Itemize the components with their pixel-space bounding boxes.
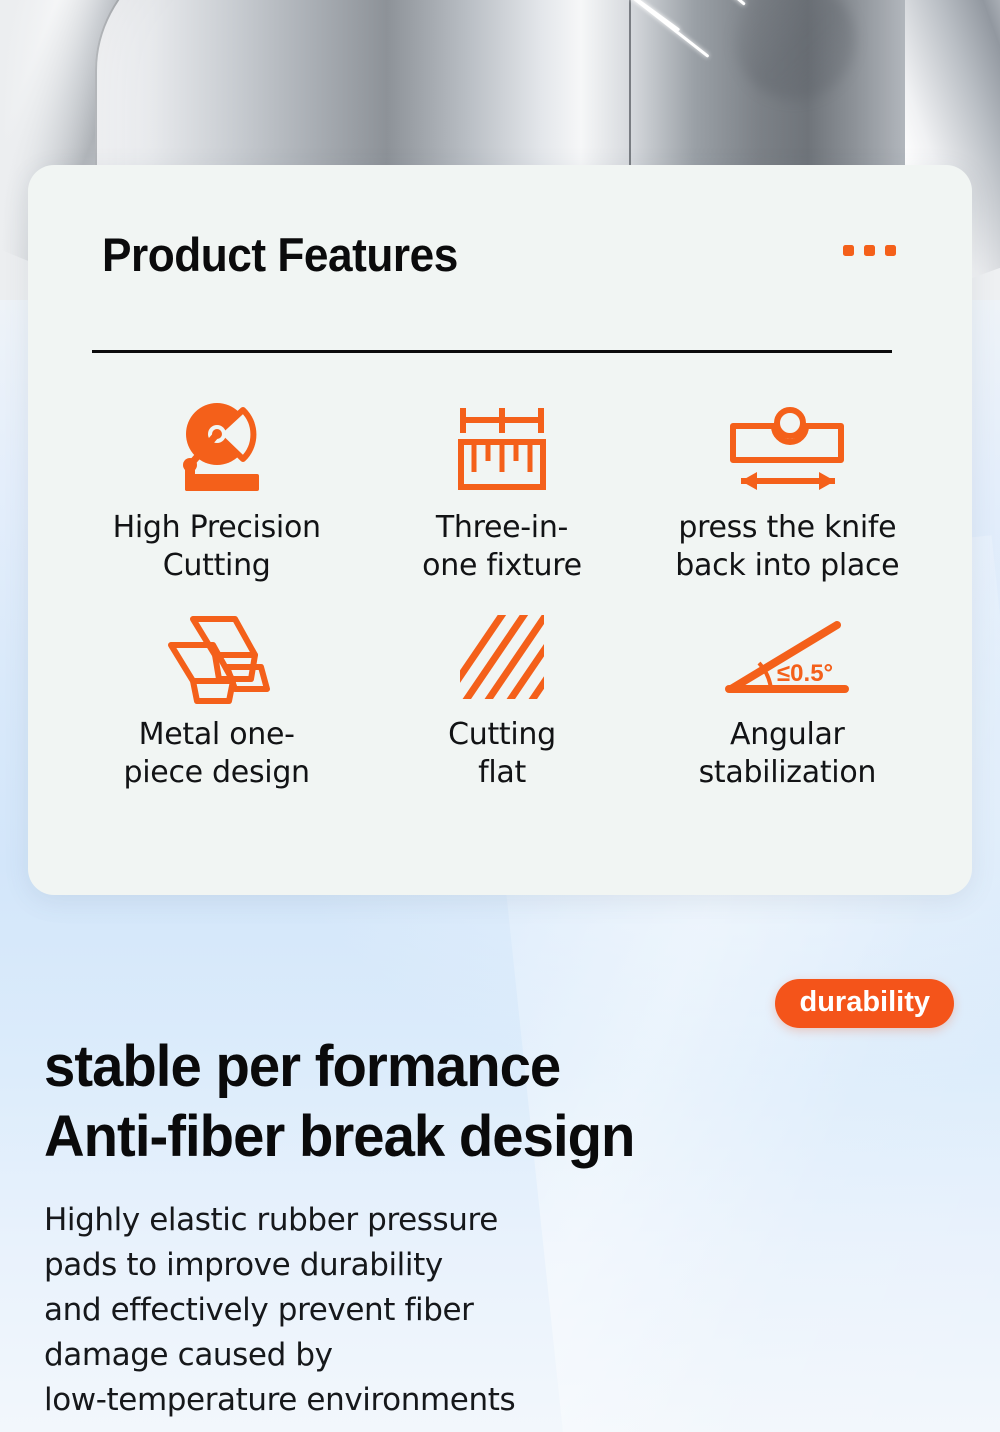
feature-label: Angular stabilization xyxy=(699,716,877,793)
feature-label: Three-in- one fixture xyxy=(422,509,582,586)
circular-saw-blade-icon xyxy=(163,397,271,503)
angle-tolerance-icon: ≤0.5° xyxy=(715,604,859,710)
status-badge: durability xyxy=(775,979,954,1028)
card-header: Product Features xyxy=(102,227,898,297)
promo-headline: stable per formance Anti-fiber break des… xyxy=(44,1032,917,1172)
feature-item-angular-stabilization[interactable]: ≤0.5° Angular stabilization xyxy=(645,604,930,793)
headline-line-1: stable per formance xyxy=(44,1032,917,1102)
feature-label: High Precision Cutting xyxy=(113,509,321,586)
dot xyxy=(885,245,896,256)
feature-item-metal-one-piece-design[interactable]: Metal one- piece design xyxy=(74,604,359,793)
ruler-measure-icon xyxy=(448,397,556,503)
feature-item-three-in-one-fixture[interactable]: Three-in- one fixture xyxy=(359,397,644,586)
dot xyxy=(864,245,875,256)
feature-label: Metal one- piece design xyxy=(124,716,310,793)
feature-label: Cutting flat xyxy=(448,716,556,793)
feature-item-cutting-flat[interactable]: Cutting flat xyxy=(359,604,644,793)
dot xyxy=(843,245,854,256)
angle-tolerance-value: ≤0.5° xyxy=(777,660,833,687)
feature-item-high-precision-cutting[interactable]: High Precision Cutting xyxy=(74,397,359,586)
promo-body-text: Highly elastic rubber pressure pads to i… xyxy=(44,1198,664,1423)
metal-ingots-icon xyxy=(157,604,277,710)
features-grid: High Precision Cutting xyxy=(74,397,930,793)
knife-press-back-icon xyxy=(721,397,853,503)
headline-line-2: Anti-fiber break design xyxy=(44,1102,917,1172)
title-divider xyxy=(92,350,892,353)
three-dots-icon[interactable] xyxy=(843,245,896,256)
product-features-card: Product Features xyxy=(28,165,972,895)
page-title: Product Features xyxy=(102,227,458,282)
diagonal-hatch-icon xyxy=(450,604,554,710)
feature-label: press the knife back into place xyxy=(675,509,899,586)
feature-item-press-knife-back[interactable]: press the knife back into place xyxy=(645,397,930,586)
product-detail-page: Product Features xyxy=(0,0,1000,1432)
